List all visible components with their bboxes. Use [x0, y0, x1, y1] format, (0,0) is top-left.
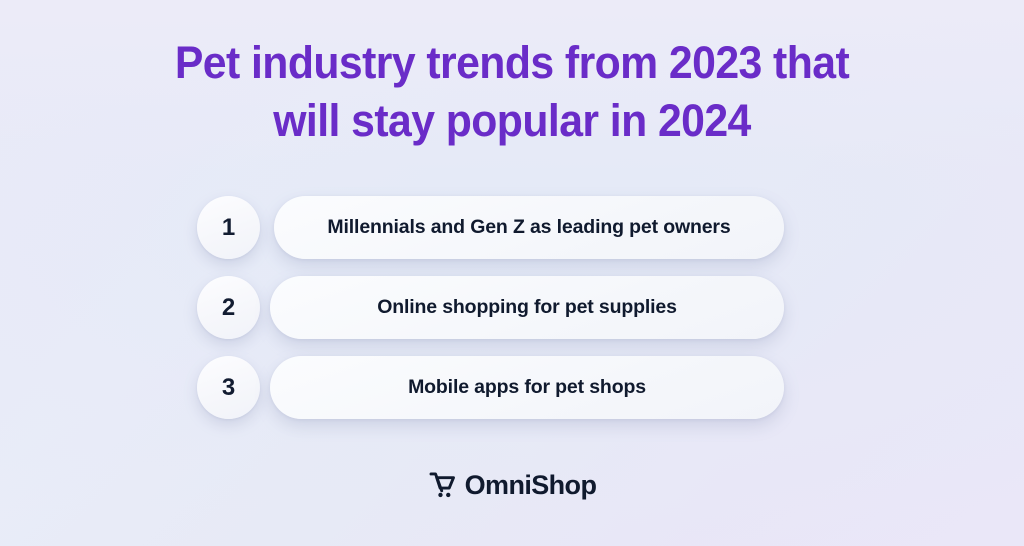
list-item-label-1: Millennials and Gen Z as leading pet own…	[327, 216, 730, 239]
trends-list: 1 Millennials and Gen Z as leading pet o…	[0, 196, 1024, 436]
list-item-number-1: 1	[222, 216, 235, 240]
list-item-label-3: Mobile apps for pet shops	[408, 376, 646, 399]
title-block: Pet industry trends from 2023 that will …	[0, 0, 1024, 150]
list-item-number-2: 2	[222, 296, 235, 320]
list-item-number-badge-3: 3	[197, 356, 260, 419]
list-item: 3 Mobile apps for pet shops	[0, 356, 1024, 436]
list-item-number-badge-1: 1	[197, 196, 260, 259]
shopping-cart-icon	[428, 470, 458, 500]
list-item-card-1[interactable]: Millennials and Gen Z as leading pet own…	[274, 196, 784, 259]
brand-logo: OmniShop	[0, 470, 1024, 500]
list-item-card-2[interactable]: Online shopping for pet supplies	[270, 276, 784, 339]
infographic-poster: Pet industry trends from 2023 that will …	[0, 0, 1024, 546]
list-item-number-3: 3	[222, 376, 235, 400]
brand-name: OmniShop	[465, 472, 597, 499]
list-item-label-2: Online shopping for pet supplies	[377, 296, 677, 319]
page-title-line-2: will stay popular in 2024	[142, 92, 883, 150]
page-title-line-1: Pet industry trends from 2023 that	[142, 34, 883, 92]
list-item: 2 Online shopping for pet supplies	[0, 276, 1024, 356]
list-item-number-badge-2: 2	[197, 276, 260, 339]
page-title: Pet industry trends from 2023 that will …	[142, 34, 883, 150]
list-item-card-3[interactable]: Mobile apps for pet shops	[270, 356, 784, 419]
list-item: 1 Millennials and Gen Z as leading pet o…	[0, 196, 1024, 276]
